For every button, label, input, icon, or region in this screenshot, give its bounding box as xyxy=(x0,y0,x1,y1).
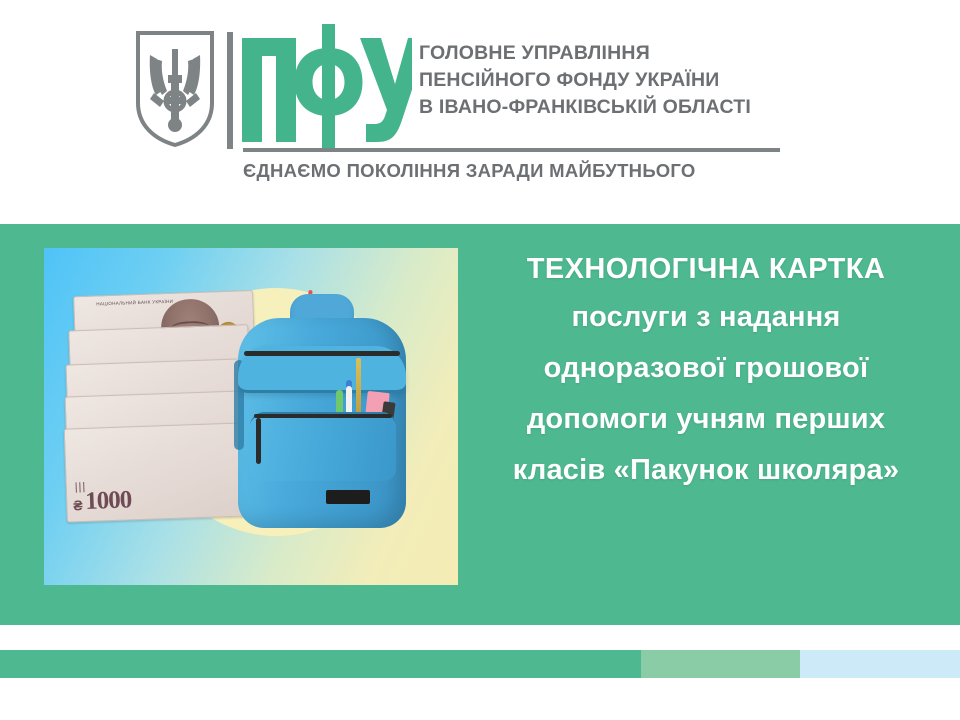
slide-subtitle-line-2: одноразової грошової xyxy=(466,343,946,394)
page-footer xyxy=(0,678,960,720)
slide-subtitle-line-3: допомоги учням перших xyxy=(466,394,946,445)
header-divider-rule xyxy=(243,148,780,152)
slide-title: ТЕХНОЛОГІЧНА КАРТКА xyxy=(466,246,946,292)
backpack-brand-label xyxy=(326,490,370,504)
organization-tagline: ЄДНАЄМО ПОКОЛІННЯ ЗАРАДИ МАЙБУТНЬОГО xyxy=(243,157,843,185)
org-line-3: В ІВАНО-ФРАНКІВСЬКІЙ ОБЛАСТІ xyxy=(419,94,849,121)
backpack-zipper-pull xyxy=(256,418,261,464)
accent-segment-light-green xyxy=(641,650,800,678)
accent-segment-green xyxy=(0,650,641,678)
accent-segment-light-blue xyxy=(800,650,960,678)
backpack-pocket-zipper xyxy=(254,414,392,418)
backpack-front-pocket xyxy=(250,412,396,481)
banknote-issuer: НАЦІОНАЛЬНИЙ БАНК УКРАЇНИ xyxy=(96,299,173,307)
banknote-denomination: 1000 xyxy=(85,486,132,516)
org-line-2: ПЕНСІЙНОГО ФОНДУ УКРАЇНИ xyxy=(419,67,849,94)
slide-subtitle-line-4: класів «Пакунок школяра» xyxy=(466,445,946,496)
logo-divider xyxy=(227,32,233,149)
slide-title-block: ТЕХНОЛОГІЧНА КАРТКА послуги з надання од… xyxy=(466,246,946,496)
banknote: ||| ₴ 1000 xyxy=(64,422,247,522)
org-line-1: ГОЛОВНЕ УПРАВЛІННЯ xyxy=(419,40,849,67)
slide-subtitle-line-1: послуги з надання xyxy=(466,292,946,343)
backpack-and-banknotes-photo: НАЦІОНАЛЬНИЙ БАНК УКРАЇНИ ||| ₴ 1000 |||… xyxy=(44,248,458,585)
ukraine-trident-shield-icon xyxy=(134,29,216,149)
bottom-white-gap xyxy=(0,625,960,650)
banknote-currency-sign: ₴ xyxy=(73,497,83,513)
backpack-top-zipper xyxy=(244,351,400,356)
backpack-illustration xyxy=(228,294,418,544)
slide-main-panel: НАЦІОНАЛЬНИЙ БАНК УКРАЇНИ ||| ₴ 1000 |||… xyxy=(0,224,960,625)
pfu-logo xyxy=(240,22,412,152)
bottom-accent-bar xyxy=(0,650,960,678)
organization-name: ГОЛОВНЕ УПРАВЛІННЯ ПЕНСІЙНОГО ФОНДУ УКРА… xyxy=(419,40,849,121)
page-header: ГОЛОВНЕ УПРАВЛІННЯ ПЕНСІЙНОГО ФОНДУ УКРА… xyxy=(0,0,960,224)
